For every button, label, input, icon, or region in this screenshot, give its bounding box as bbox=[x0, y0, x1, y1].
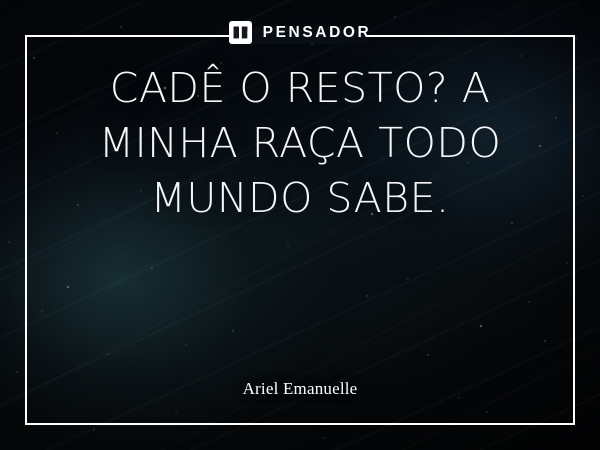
author-container: Ariel Emanuelle bbox=[25, 379, 575, 399]
quotation-mark-icon bbox=[229, 21, 252, 44]
brand-logo[interactable]: PENSADOR bbox=[0, 21, 600, 44]
author-name[interactable]: Ariel Emanuelle bbox=[243, 379, 358, 399]
brand-wordmark: PENSADOR bbox=[263, 25, 372, 41]
quote-card: PENSADOR Cadê o resto? A minha raça todo… bbox=[0, 0, 600, 450]
quote-content: Cadê o resto? A minha raça todo mundo sa… bbox=[25, 35, 575, 425]
quote-text: Cadê o resto? A minha raça todo mundo sa… bbox=[25, 35, 575, 226]
